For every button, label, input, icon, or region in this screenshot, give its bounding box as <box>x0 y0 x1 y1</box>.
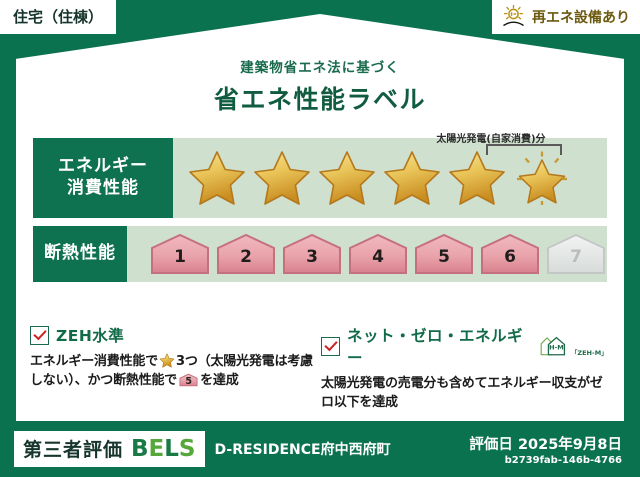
star-rating: 太陽光発電(自家消費)分 <box>173 149 572 207</box>
solar-star-group: 太陽光発電(自家消費)分 <box>512 149 572 207</box>
building-name: D-RESIDENCE府中西府町 <box>215 439 391 459</box>
zeh-m-logo-text: H-M <box>549 344 564 352</box>
building-type-label: 住宅（住棟） <box>13 8 103 26</box>
insulation-level-number: 2 <box>215 247 277 267</box>
insulation-level-6: 6 <box>479 233 541 275</box>
insulation-performance-value: 1 2 3 <box>127 226 607 282</box>
insulation-level-number: 4 <box>347 247 409 267</box>
insulation-level-1: 1 <box>149 233 211 275</box>
insulation-level-2: 2 <box>215 233 277 275</box>
sun-icon <box>500 4 527 29</box>
criteria-section: ZEH水準 エネルギー消費性能で3つ（太陽光発電は考慮しない）、かつ断熱性能で5… <box>30 324 612 413</box>
energy-performance-key: エネルギー 消費性能 <box>33 138 173 218</box>
rating-rows: エネルギー 消費性能 <box>33 138 607 282</box>
criterion-net-zero: ネット・ゼロ・エネルギー H-M 「ZEH-M」 太陽光発電の売電分も含めてエネ… <box>321 324 612 413</box>
star-icon <box>317 149 377 207</box>
insulation-level-7: 7 <box>545 233 607 275</box>
evaluation-id: b2739fab-146b-4766 <box>469 455 622 466</box>
label-header: 建築物省エネ法に基づく 省エネ性能ラベル <box>0 56 640 116</box>
star-icon <box>187 149 247 207</box>
solar-annotation-bracket <box>486 144 562 155</box>
solar-star-icon <box>512 149 572 207</box>
criterion-zeh-text-3: を達成 <box>200 373 238 388</box>
solar-annotation-label: 太陽光発電(自家消費)分 <box>416 130 566 145</box>
zeh-m-logo-caption: 「ZEH-M」 <box>571 347 606 357</box>
bels-tag: 第三者評価 BELS <box>14 431 205 467</box>
page-title: 省エネ性能ラベル <box>0 80 640 116</box>
insulation-level-number: 3 <box>281 247 343 267</box>
evaluation-date: 評価日 2025年9月8日 <box>469 433 622 454</box>
house-badge-icon: 5 <box>179 372 198 388</box>
evaluation-date-value: 2025年9月8日 <box>518 437 622 453</box>
renewable-energy-label: 再エネ設備あり <box>532 7 630 27</box>
energy-key-line1: エネルギー <box>58 156 148 178</box>
building-type-tag: 住宅（住棟） <box>0 0 116 34</box>
energy-performance-label: 住宅（住棟） 再エネ設備あり 建築物省エネ法に基づく 省エネ性能ラベル <box>0 0 640 477</box>
insulation-performance-key: 断熱性能 <box>33 226 127 282</box>
star-icon <box>252 149 312 207</box>
zeh-m-logo: H-M 「ZEH-M」 <box>539 334 606 358</box>
criterion-net-zero-body: 太陽光発電の売電分も含めてエネルギー収支がゼロ以下を達成 <box>321 375 606 413</box>
insulation-level-number: 1 <box>149 247 211 267</box>
insulation-level-number: 6 <box>479 247 541 267</box>
insulation-level-4: 4 <box>347 233 409 275</box>
insulation-performance-row: 断熱性能 <box>33 226 607 282</box>
energy-performance-row: エネルギー 消費性能 <box>33 138 607 218</box>
criterion-zeh: ZEH水準 エネルギー消費性能で3つ（太陽光発電は考慮しない）、かつ断熱性能で5… <box>30 324 321 413</box>
criterion-zeh-title: ZEH水準 <box>56 324 124 346</box>
insulation-key-label: 断熱性能 <box>44 243 116 265</box>
criterion-net-zero-title: ネット・ゼロ・エネルギー <box>347 324 530 368</box>
criterion-net-zero-header: ネット・ゼロ・エネルギー H-M 「ZEH-M」 <box>321 324 606 368</box>
energy-key-line2: 消費性能 <box>67 178 139 200</box>
criterion-zeh-badge-number: 5 <box>179 375 198 389</box>
insulation-scale: 1 2 3 <box>127 233 607 275</box>
header-subtitle: 建築物省エネ法に基づく <box>0 56 640 76</box>
star-icon <box>382 149 442 207</box>
star-icon <box>159 353 175 368</box>
insulation-level-3: 3 <box>281 233 343 275</box>
insulation-level-number: 7 <box>545 247 607 267</box>
criterion-zeh-header: ZEH水準 <box>30 324 315 346</box>
zeh-checkbox[interactable] <box>30 326 49 345</box>
criterion-zeh-body: エネルギー消費性能で3つ（太陽光発電は考慮しない）、かつ断熱性能で5を達成 <box>30 353 315 391</box>
evaluation-date-label: 評価日 <box>469 437 513 453</box>
insulation-level-5: 5 <box>413 233 475 275</box>
criterion-zeh-text-1: エネルギー消費性能で <box>30 354 158 369</box>
renewable-energy-badge: 再エネ設備あり <box>492 0 640 34</box>
net-zero-checkbox[interactable] <box>321 337 340 356</box>
zeh-m-house-icon: H-M <box>539 334 570 358</box>
bottom-bar: 第三者評価 BELS D-RESIDENCE府中西府町 評価日 2025年9月8… <box>0 421 640 477</box>
star-icon <box>447 149 507 207</box>
energy-performance-value: 太陽光発電(自家消費)分 <box>173 138 607 218</box>
third-party-eval-label: 第三者評価 <box>23 435 123 462</box>
bels-logo: BELS <box>131 436 195 462</box>
insulation-level-number: 5 <box>413 247 475 267</box>
evaluation-info: 評価日 2025年9月8日 b2739fab-146b-4766 <box>469 433 622 466</box>
